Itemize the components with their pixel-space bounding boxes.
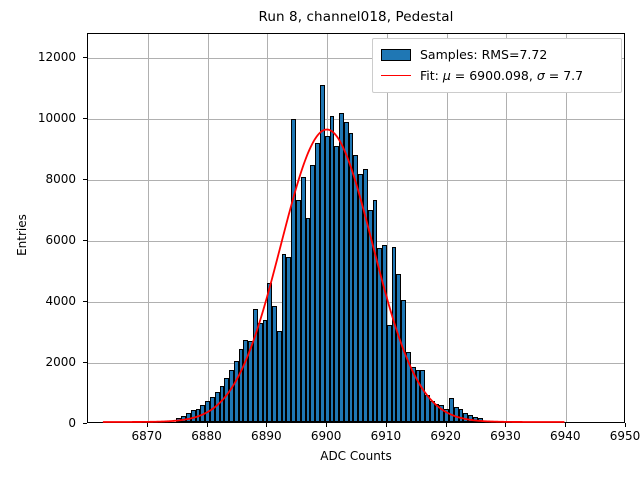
fit-mu-value: 6900.098 <box>469 68 529 83</box>
y-tick-label: 0 <box>0 416 76 430</box>
fit-sigma-value: 7.7 <box>563 68 583 83</box>
y-tick-label: 8000 <box>0 172 76 186</box>
x-tick-label: 6950 <box>610 429 640 443</box>
x-tick-mark <box>147 423 148 427</box>
x-tick-label: 6930 <box>490 429 521 443</box>
legend-item-fit: Fit: μ = 6900.098, σ = 7.7 <box>381 65 613 86</box>
x-tick-label: 6940 <box>550 429 581 443</box>
y-tick-mark <box>83 423 87 424</box>
y-tick-mark <box>83 362 87 363</box>
y-tick-mark <box>83 240 87 241</box>
legend: Samples: RMS=7.72 Fit: μ = 6900.098, σ =… <box>372 38 622 93</box>
y-tick-label: 12000 <box>0 50 76 64</box>
y-tick-mark <box>83 301 87 302</box>
y-tick-label: 2000 <box>0 355 76 369</box>
x-tick-mark <box>505 423 506 427</box>
x-tick-mark <box>207 423 208 427</box>
x-tick-label: 6900 <box>311 429 342 443</box>
legend-label-fit: Fit: μ = 6900.098, σ = 7.7 <box>420 68 583 83</box>
x-tick-mark <box>266 423 267 427</box>
x-tick-label: 6910 <box>371 429 402 443</box>
legend-line-icon <box>381 75 411 76</box>
x-tick-label: 6920 <box>430 429 461 443</box>
x-tick-mark <box>446 423 447 427</box>
y-axis-label: Entries <box>15 155 29 315</box>
x-tick-label: 6890 <box>251 429 282 443</box>
x-tick-label: 6880 <box>191 429 222 443</box>
chart-title: Run 8, channel018, Pedestal <box>87 9 625 25</box>
legend-patch-icon <box>381 49 411 61</box>
y-tick-mark <box>83 57 87 58</box>
x-tick-mark <box>326 423 327 427</box>
x-tick-mark <box>625 423 626 427</box>
y-tick-label: 4000 <box>0 294 76 308</box>
x-tick-mark <box>565 423 566 427</box>
y-tick-mark <box>83 179 87 180</box>
legend-item-samples: Samples: RMS=7.72 <box>381 44 613 65</box>
x-tick-mark <box>386 423 387 427</box>
matplotlib-figure: Run 8, channel018, Pedestal 687068806890… <box>0 0 640 480</box>
y-tick-label: 6000 <box>0 233 76 247</box>
x-axis-label: ADC Counts <box>87 449 625 463</box>
y-tick-label: 10000 <box>0 111 76 125</box>
y-tick-mark <box>83 118 87 119</box>
legend-label-samples: Samples: RMS=7.72 <box>420 47 547 62</box>
x-tick-label: 6870 <box>131 429 162 443</box>
